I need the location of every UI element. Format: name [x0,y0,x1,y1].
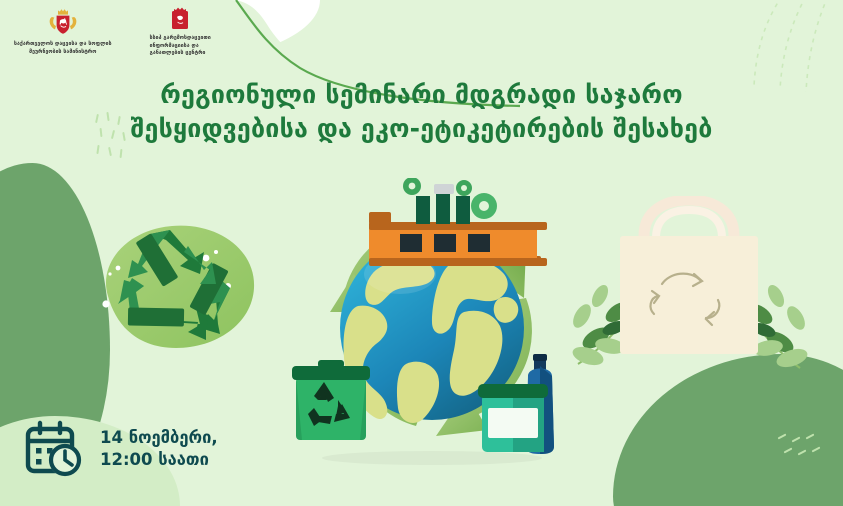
tote-bag [620,200,758,354]
title-line-2: შესყიდვებისა და ეკო-ეტიკეტირების შესახებ [96,112,747,146]
eco-tote-bag-illustration [566,196,812,390]
logo-ministry-caption: საქართველოს დაცვისა და სოფლის მეურნეობის… [14,41,112,56]
poster-canvas: საქართველოს დაცვისა და სოფლის მეურნეობის… [0,0,843,506]
date-badge: 14 ნოემბერი, 12:00 საათი [24,420,218,478]
title-line-1: რეგიონული სემინარი მდგრადი საჯარო [96,78,747,112]
logo-agency-caption: სსიპ გარემოსდაცვითი ინფორმაციისა და განა… [150,35,211,58]
globe-recycling-cycle-illustration [288,178,576,468]
agency-emblem-icon [169,6,191,32]
logo-row: საქართველოს დაცვისა და სოფლის მეურნეობის… [14,6,211,58]
calendar-clock-icon [24,420,86,478]
logo-ministry: საქართველოს დაცვისა და სოფლის მეურნეობის… [14,6,112,56]
recycling-bin-icon [292,360,370,440]
recycle-symbol-illustration [88,212,274,372]
page-title: რეგიონული სემინარი მდგრადი საჯარო შესყიდ… [0,78,843,145]
date-badge-text: 14 ნოემბერი, 12:00 საათი [100,427,218,471]
georgia-coat-of-arms-icon [47,6,79,38]
factory-icon [369,178,547,266]
logo-agency: სსიპ გარემოსდაცვითი ინფორმაციისა და განა… [150,6,211,58]
